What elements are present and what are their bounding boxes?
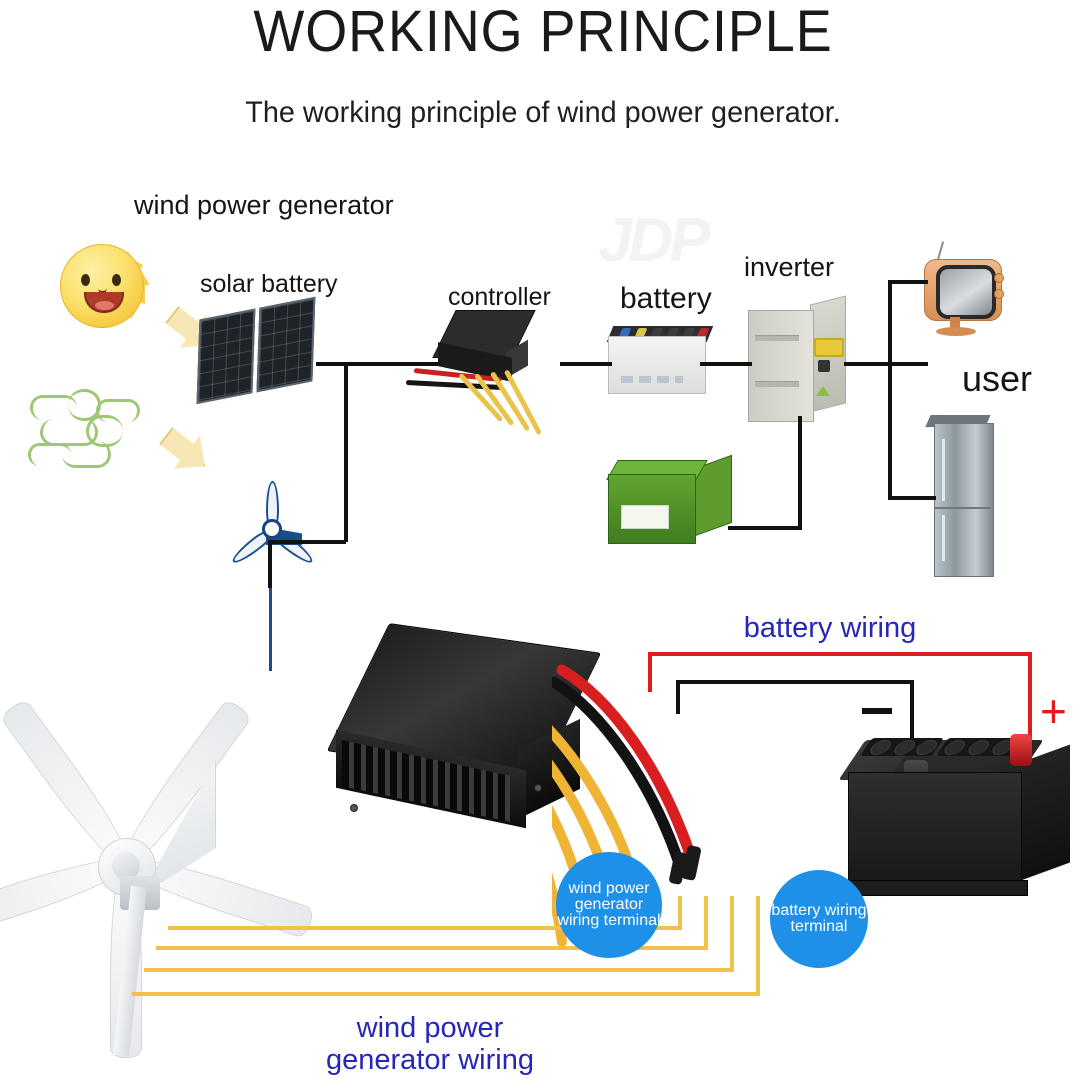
label-wind-power-generator: wind power generator [134, 190, 394, 221]
page-title: WORKING PRINCIPLE [38, 2, 1048, 63]
refrigerator-icon [928, 415, 996, 575]
wire-inverter-down [798, 416, 802, 528]
label-user: user [962, 358, 1032, 400]
caption-generator-wiring: wind power generator wiring [270, 1012, 590, 1077]
wire-user-vertical [888, 280, 892, 500]
page-subtitle: The working principle of wind power gene… [22, 96, 1065, 130]
wire-solar-to-bus [316, 362, 440, 366]
wire-battery-positive-left-drop [648, 652, 652, 692]
wire-controller-to-battery [560, 362, 612, 366]
charge-controller-icon [336, 638, 586, 858]
badge-battery-wiring-terminal[interactable]: battery wiring terminal [770, 870, 868, 968]
television-icon [918, 245, 1010, 337]
wire-battery-negative [676, 680, 914, 684]
caption-battery-wiring: battery wiring [690, 612, 970, 644]
label-controller: controller [448, 283, 551, 312]
solar-panel-icon [197, 296, 320, 400]
label-battery: battery [620, 282, 712, 316]
wire-battery-to-inverter [700, 362, 752, 366]
wire-battery-negative-left-drop [676, 680, 680, 714]
wiring-detail-diagram: + wind power generator wiring terminal b… [0, 600, 1086, 1089]
lead-acid-battery-icon [608, 320, 712, 394]
badge-generator-wiring-terminal[interactable]: wind power generator wiring terminal [556, 852, 662, 958]
wire-bus-vertical [344, 362, 348, 542]
wire-turbine-to-bus [268, 540, 346, 544]
car-battery-icon [842, 712, 1074, 912]
label-inverter: inverter [744, 252, 834, 283]
sun-icon [34, 218, 170, 354]
wire-turbine-mast [268, 540, 272, 588]
wire-inverter-to-user [844, 362, 928, 366]
label-solar-battery: solar battery [200, 270, 338, 299]
charge-controller-icon [438, 310, 530, 382]
wire-to-tv [888, 280, 928, 284]
wire-to-green-load [728, 526, 802, 530]
wire-to-fridge [888, 496, 936, 500]
wire-battery-positive [648, 652, 1032, 656]
green-load-box-icon [608, 458, 732, 542]
system-overview-schematic: wind power generator solar battery contr… [0, 170, 1086, 600]
inverter-icon [748, 296, 846, 420]
